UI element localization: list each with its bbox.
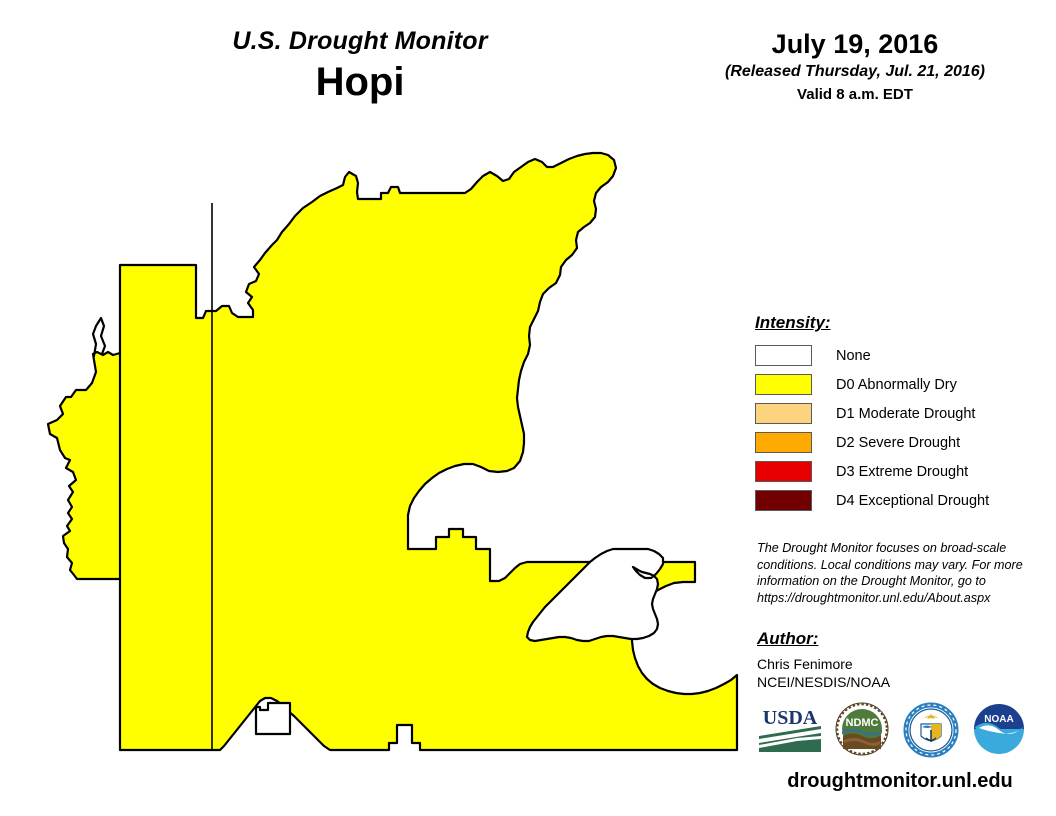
author-block: Author: Chris Fenimore NCEI/NESDIS/NOAA — [757, 628, 1037, 691]
legend-item-d2[interactable]: D2 Severe Drought — [755, 428, 1045, 457]
region-title: Hopi — [150, 58, 570, 106]
header-title-block: U.S. Drought Monitor Hopi — [150, 26, 570, 106]
legend-label-d1: D1 Moderate Drought — [836, 405, 975, 423]
legend-item-d0[interactable]: D0 Abnormally Dry — [755, 370, 1045, 399]
usdc-seal-logo[interactable] — [903, 702, 959, 758]
legend-label-d3: D3 Extreme Drought — [836, 463, 968, 481]
ndmc-logo[interactable]: NDMC — [835, 702, 889, 756]
program-title: U.S. Drought Monitor — [150, 26, 570, 56]
legend-label-d2: D2 Severe Drought — [836, 434, 960, 452]
legend-label-none: None — [836, 347, 871, 365]
legend-heading: Intensity: — [755, 312, 1045, 334]
disclaimer-line-3: information on the Drought Monitor, go t… — [757, 573, 1025, 590]
noaa-logo-text: NOAA — [984, 714, 1013, 725]
disclaimer-text: The Drought Monitor focuses on broad-sca… — [757, 540, 1025, 606]
legend-swatch-d0 — [755, 374, 812, 395]
legend-item-d4[interactable]: D4 Exceptional Drought — [755, 486, 1045, 515]
valid-time: Valid 8 a.m. EDT — [690, 85, 1020, 105]
usda-logo[interactable]: USDA — [757, 702, 823, 754]
map-polygon-west-spur — [93, 318, 105, 356]
map-notch-south — [256, 703, 290, 734]
legend-item-none[interactable]: None — [755, 341, 1045, 370]
author-heading: Author: — [757, 628, 1037, 650]
legend-swatch-d4 — [755, 490, 812, 511]
noaa-logo[interactable]: NOAA — [971, 702, 1027, 756]
legend-label-d4: D4 Exceptional Drought — [836, 492, 989, 510]
ndmc-logo-text: NDMC — [846, 717, 879, 729]
legend-swatch-none — [755, 345, 812, 366]
release-date: (Released Thursday, Jul. 21, 2016) — [690, 61, 1020, 83]
legend-item-d1[interactable]: D1 Moderate Drought — [755, 399, 1045, 428]
legend-panel: Intensity: None D0 Abnormally Dry D1 Mod… — [755, 312, 1045, 515]
map-svg — [0, 150, 740, 810]
disclaimer-line-2: conditions. Local conditions may vary. F… — [757, 557, 1025, 574]
legend-swatch-d2 — [755, 432, 812, 453]
drought-map — [0, 150, 740, 810]
logo-row: USDA NDMC NOAA — [755, 702, 1045, 760]
legend-label-d0: D0 Abnormally Dry — [836, 376, 957, 394]
legend-swatch-d1 — [755, 403, 812, 424]
author-name: Chris Fenimore — [757, 655, 1037, 673]
disclaimer-line-1: The Drought Monitor focuses on broad-sca… — [757, 540, 1025, 557]
legend-swatch-d3 — [755, 461, 812, 482]
website-url[interactable]: droughtmonitor.unl.edu — [755, 768, 1045, 794]
header-date-block: July 19, 2016 (Released Thursday, Jul. 2… — [690, 28, 1020, 105]
disclaimer-about-link[interactable]: https://droughtmonitor.unl.edu/About.asp… — [757, 590, 1025, 607]
legend-item-d3[interactable]: D3 Extreme Drought — [755, 457, 1045, 486]
usda-logo-text: USDA — [763, 707, 818, 729]
author-affiliation: NCEI/NESDIS/NOAA — [757, 673, 1037, 691]
map-date: July 19, 2016 — [690, 28, 1020, 60]
